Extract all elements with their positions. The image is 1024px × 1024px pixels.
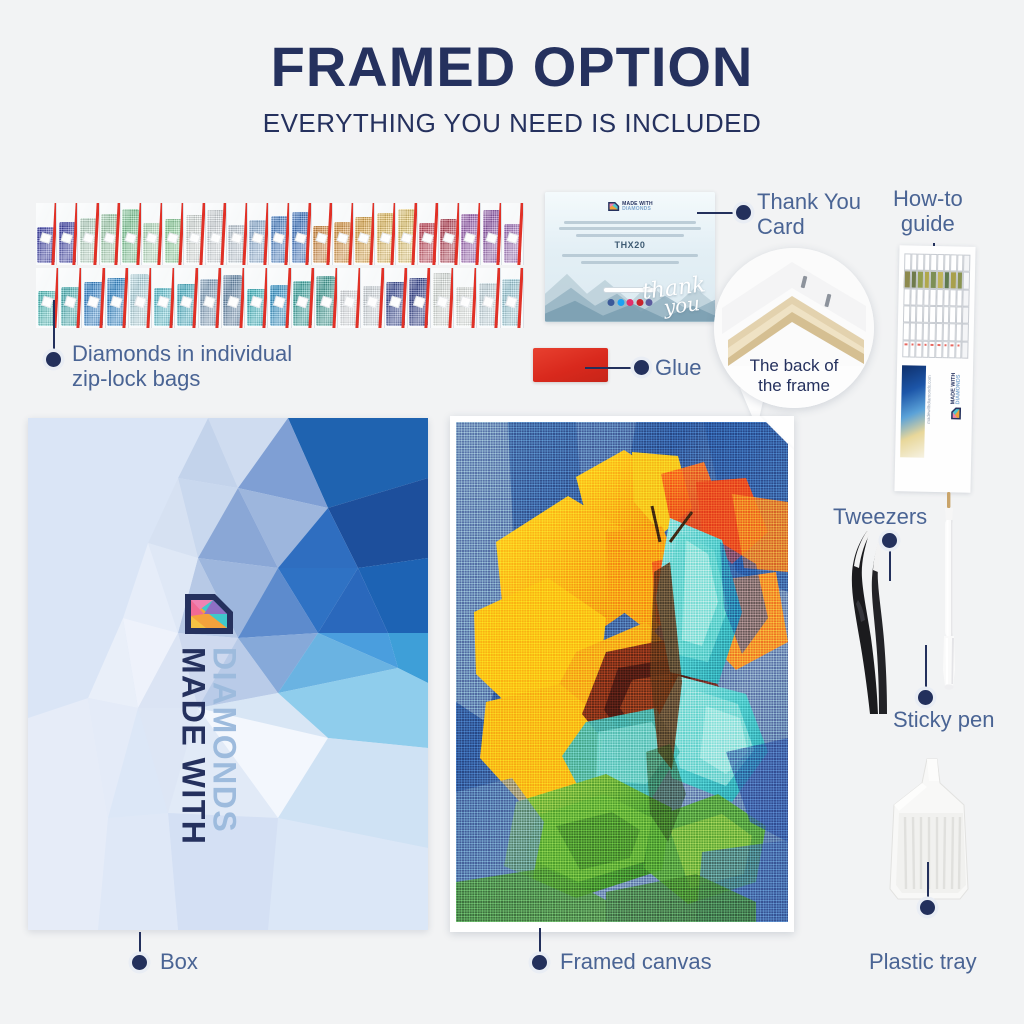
ziplock-bag <box>292 268 315 328</box>
box-brand-logo: MADE WITH DIAMONDS <box>178 591 239 845</box>
card-brand-line2: DIAMONDS <box>622 207 653 212</box>
leader-line-sticky-pen <box>925 645 927 693</box>
guide-color-chart-table <box>902 253 970 358</box>
ziplock-bag <box>290 203 311 265</box>
guide-table-cell <box>963 289 970 306</box>
callout-dot-box <box>132 955 147 970</box>
sticky-pen <box>938 492 960 700</box>
label-box: Box <box>160 950 198 975</box>
leader-line-tweezers <box>889 545 891 581</box>
sticky-pen-shape <box>938 492 960 700</box>
thank-you-card: MADE WITH DIAMONDS THX20 thank you <box>545 192 715 322</box>
box-brand-line1: MADE WITH <box>178 647 209 845</box>
guide-table-cell <box>962 307 969 324</box>
card-thank-you-script: thank you <box>641 276 708 318</box>
ziplock-bag <box>245 268 268 328</box>
diamond-logo-icon <box>950 406 962 420</box>
ziplock-bag <box>418 203 439 265</box>
instagram-icon <box>627 299 634 306</box>
canvas-artwork <box>456 422 788 922</box>
twitter-icon <box>617 299 624 306</box>
guide-brand-logo: MADE WITH DIAMONDS <box>948 368 965 420</box>
leader-line-glue <box>585 367 638 369</box>
guide-table-cell <box>962 341 969 358</box>
leader-line-thank-you <box>697 212 739 214</box>
card-discount-code: THX20 <box>559 240 702 250</box>
ziplock-bag <box>227 203 248 265</box>
ziplock-bag <box>375 203 396 265</box>
framed-canvas <box>450 416 794 932</box>
callout-dot-tweezers <box>882 533 897 548</box>
card-message: THX20 <box>559 221 702 268</box>
guide-table-cell <box>963 255 970 272</box>
label-framed-canvas: Framed canvas <box>560 950 712 975</box>
facebook-icon <box>608 299 615 306</box>
ziplock-bag <box>82 268 105 328</box>
label-diamonds-bags: Diamonds in individual zip-lock bags <box>72 342 292 391</box>
guide-table-cell <box>962 324 969 341</box>
guide-brand-line2: DIAMONDS <box>956 373 962 405</box>
pinterest-icon <box>636 299 643 306</box>
page-title: FRAMED OPTION <box>0 34 1024 99</box>
product-box: MADE WITH DIAMONDS <box>28 418 428 930</box>
guide-table-cell <box>963 272 970 289</box>
callout-dot-sticky-pen <box>918 690 933 705</box>
ziplock-bag <box>361 268 384 328</box>
ziplock-bag <box>268 268 291 328</box>
callout-dot-tray <box>920 900 935 915</box>
ziplock-bag <box>481 203 502 265</box>
ziplock-bag <box>175 268 198 328</box>
label-sticky-pen: Sticky pen <box>893 708 995 733</box>
ziplock-bag <box>439 203 460 265</box>
ziplock-bag <box>408 268 431 328</box>
ziplock-bag <box>460 203 481 265</box>
ziplock-bag <box>57 203 78 265</box>
ziplock-bag-row-top <box>36 203 524 265</box>
label-plastic-tray: Plastic tray <box>869 950 977 975</box>
guide-preview-image <box>900 365 926 457</box>
label-tweezers: Tweezers <box>833 505 927 530</box>
tweezers-shape <box>848 528 906 718</box>
glue-pad <box>533 348 608 382</box>
box-brand-line2: DIAMONDS <box>209 647 240 845</box>
ziplock-bag <box>338 268 361 328</box>
tweezers <box>848 528 906 718</box>
ziplock-bag <box>454 268 477 328</box>
ziplock-bag <box>501 268 524 328</box>
ziplock-bag <box>78 203 99 265</box>
ziplock-bag <box>248 203 269 265</box>
guide-caption: madewithdiamonds.com <box>926 375 932 424</box>
ziplock-bag <box>431 268 454 328</box>
ziplock-bag <box>121 203 142 265</box>
ziplock-bag <box>163 203 184 265</box>
page-subtitle: EVERYTHING YOU NEED IS INCLUDED <box>0 108 1024 139</box>
callout-dot-glue <box>634 360 649 375</box>
diamond-grid-texture <box>456 422 788 922</box>
ziplock-bag <box>36 203 57 265</box>
ziplock-bag <box>333 203 354 265</box>
label-how-to-guide: How-to guide <box>893 187 963 236</box>
ziplock-bag <box>502 203 523 265</box>
ziplock-bag <box>184 203 205 265</box>
ziplock-bag <box>59 268 82 328</box>
ziplock-bag <box>129 268 152 328</box>
ziplock-bag <box>142 203 163 265</box>
ziplock-bag <box>312 203 333 265</box>
ziplock-bag <box>385 268 408 328</box>
ziplock-bag <box>269 203 290 265</box>
diamond-logo-icon <box>607 201 620 212</box>
ziplock-bag <box>100 203 121 265</box>
frame-back-bubble: The back of the frame <box>714 248 874 408</box>
label-thank-you-card: Thank You Card <box>757 190 861 239</box>
diamond-logo-icon <box>182 591 236 637</box>
ziplock-bag <box>222 268 245 328</box>
label-glue: Glue <box>655 356 701 381</box>
ziplock-bag-row-bottom <box>36 268 524 328</box>
leader-line-canvas <box>539 928 541 958</box>
ziplock-bag <box>315 268 338 328</box>
ziplock-bag <box>199 268 222 328</box>
bubble-caption: The back of the frame <box>714 356 874 395</box>
ziplock-bag <box>396 203 417 265</box>
callout-dot-diamonds <box>46 352 61 367</box>
ziplock-bag <box>477 268 500 328</box>
leader-line-tray <box>927 862 929 904</box>
leader-line-diamonds <box>53 300 55 356</box>
ziplock-bag <box>206 203 227 265</box>
card-brand-logo: MADE WITH DIAMONDS <box>607 201 653 212</box>
ziplock-bag <box>106 268 129 328</box>
ziplock-bag <box>36 268 59 328</box>
how-to-guide-sheet: MADE WITH DIAMONDS madewithdiamonds.com <box>894 245 975 493</box>
callout-dot-canvas <box>532 955 547 970</box>
ziplock-bag <box>152 268 175 328</box>
infographic-root: FRAMED OPTION EVERYTHING YOU NEED IS INC… <box>0 0 1024 1024</box>
ziplock-bag <box>354 203 375 265</box>
callout-dot-thank-you <box>736 205 751 220</box>
